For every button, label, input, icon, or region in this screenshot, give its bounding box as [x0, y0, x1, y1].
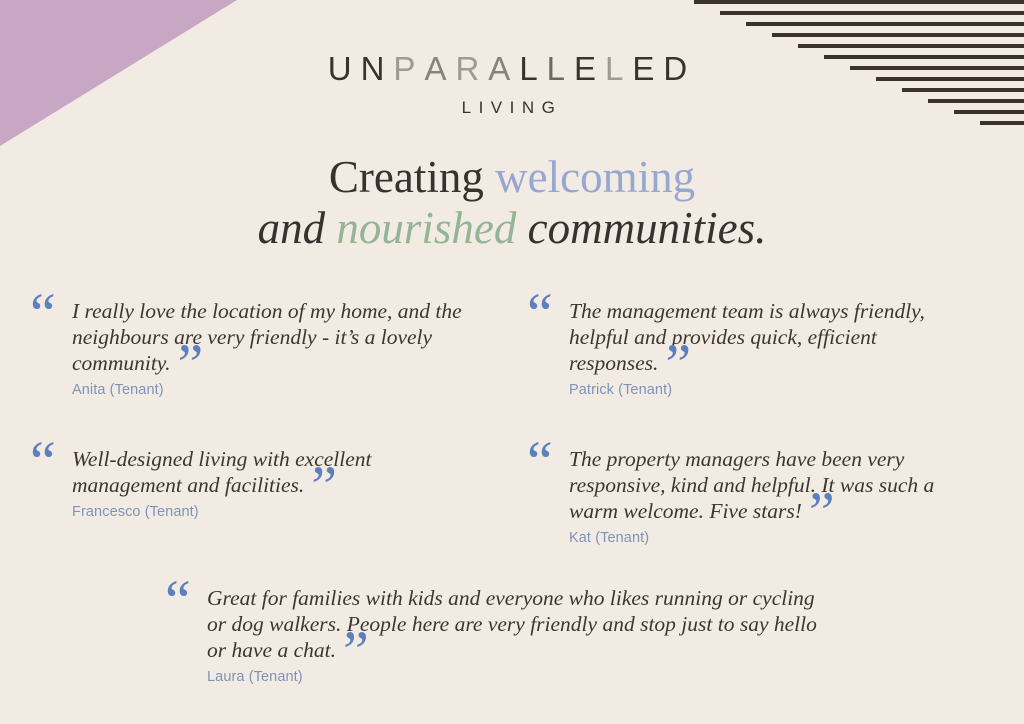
- testimonial-quote: “I really love the location of my home, …: [30, 298, 470, 376]
- headline-accent-welcoming: welcoming: [495, 152, 695, 202]
- wordmark-letter-0: U: [328, 52, 361, 85]
- testimonial-quote-text: Great for families with kids and everyon…: [207, 586, 817, 662]
- testimonial-attribution: Francesco (Tenant): [72, 504, 470, 520]
- wordmark-letter-9: L: [605, 52, 632, 85]
- brand-wordmark: UNPARALLELED: [328, 52, 697, 85]
- testimonial-poster: UNPARALLELED LIVING Creating welcoming a…: [0, 0, 1024, 724]
- corner-stripe-1: [720, 11, 1024, 15]
- testimonial-card-laura: “Great for families with kids and everyo…: [165, 585, 825, 685]
- testimonial-card-patrick: “The management team is always friendly,…: [527, 298, 967, 398]
- headline-text-creating: Creating: [329, 152, 495, 202]
- corner-stripe-2: [746, 22, 1024, 26]
- wordmark-letter-8: E: [574, 52, 605, 85]
- wordmark-letter-10: E: [632, 52, 663, 85]
- testimonial-quote: “Well-designed living with excellent man…: [30, 446, 470, 498]
- wordmark-letter-4: R: [455, 52, 488, 85]
- quote-open-icon: “: [30, 433, 54, 491]
- testimonial-card-kat: “The property managers have been very re…: [527, 446, 987, 546]
- corner-stripe-0: [694, 0, 1024, 4]
- headline-line-1: Creating welcoming: [0, 152, 1024, 203]
- wordmark-letter-2: P: [393, 52, 424, 85]
- quote-open-icon: “: [527, 433, 551, 491]
- corner-stripe-3: [772, 33, 1024, 37]
- testimonial-quote: “Great for families with kids and everyo…: [165, 585, 825, 663]
- testimonial-quote-text: The management team is always friendly, …: [569, 299, 925, 375]
- wordmark-letter-11: D: [663, 52, 696, 85]
- testimonial-card-anita: “I really love the location of my home, …: [30, 298, 470, 398]
- wordmark-letter-6: L: [519, 52, 546, 85]
- brand-logo: UNPARALLELED LIVING: [0, 52, 1024, 118]
- wordmark-letter-3: A: [424, 52, 455, 85]
- headline-accent-nourished: nourished: [336, 203, 516, 253]
- headline-text-and: and: [258, 203, 337, 253]
- headline-text-communities: communities.: [516, 203, 766, 253]
- testimonial-attribution: Patrick (Tenant): [569, 382, 967, 398]
- page-title: Creating welcoming and nourished communi…: [0, 152, 1024, 254]
- corner-stripe-4: [798, 44, 1024, 48]
- wordmark-letter-7: L: [547, 52, 574, 85]
- testimonial-quote-text: The property managers have been very res…: [569, 447, 934, 523]
- testimonial-attribution: Anita (Tenant): [72, 382, 470, 398]
- testimonial-attribution: Laura (Tenant): [207, 669, 825, 685]
- testimonial-quote: “The management team is always friendly,…: [527, 298, 967, 376]
- brand-subword: LIVING: [0, 98, 1024, 118]
- wordmark-letter-1: N: [361, 52, 394, 85]
- testimonial-card-francesco: “Well-designed living with excellent man…: [30, 446, 470, 520]
- testimonial-quote: “The property managers have been very re…: [527, 446, 987, 524]
- testimonial-quote-text: I really love the location of my home, a…: [72, 299, 462, 375]
- headline-line-2: and nourished communities.: [0, 203, 1024, 254]
- quote-open-icon: “: [527, 285, 551, 343]
- testimonial-attribution: Kat (Tenant): [569, 530, 987, 546]
- corner-stripe-11: [980, 121, 1024, 125]
- quote-open-icon: “: [30, 285, 54, 343]
- quote-open-icon: “: [165, 572, 189, 630]
- wordmark-letter-5: A: [488, 52, 519, 85]
